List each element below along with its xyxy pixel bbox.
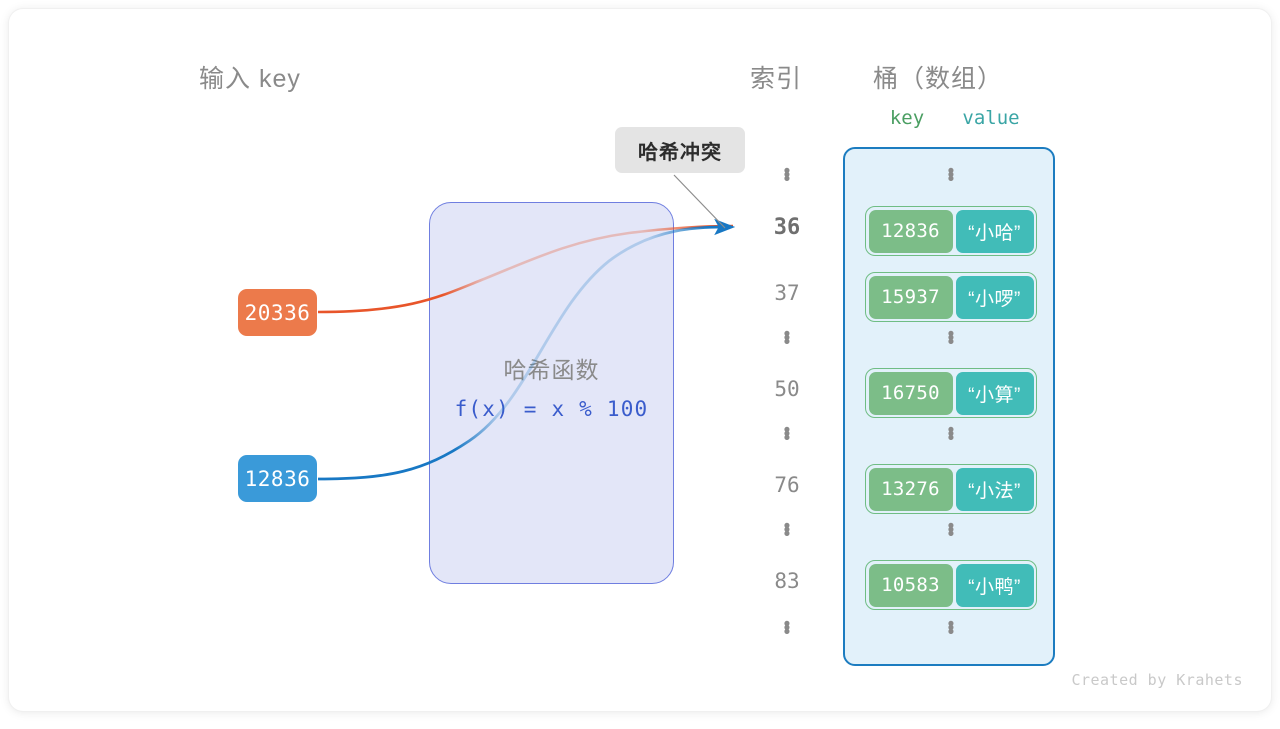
entry-value: “小啰” xyxy=(956,276,1034,319)
collision-leader-line xyxy=(674,175,725,228)
entry-key: 10583 xyxy=(869,564,953,607)
input-key-chip-12836[interactable]: 12836 xyxy=(238,455,317,502)
index-ellipsis: ••• xyxy=(753,170,821,182)
bucket-ellipsis: ••• xyxy=(845,623,1057,635)
bucket-ellipsis: ••• xyxy=(845,170,1057,182)
hash-collision-callout: 哈希冲突 xyxy=(615,127,745,173)
index-ellipsis: ••• xyxy=(753,333,821,345)
input-key-title: 输入 key xyxy=(199,59,301,95)
bucket-array: •••12836“小哈”15937“小啰”•••16750“小算”•••1327… xyxy=(843,147,1055,666)
index-column: •••3637•••50•••76•••83••• xyxy=(753,149,821,669)
index-title: 索引 xyxy=(750,59,802,95)
hash-function-box: 哈希函数 f(x) = x % 100 xyxy=(429,202,674,584)
entry-key: 16750 xyxy=(869,372,953,415)
entry-value: “小算” xyxy=(956,372,1034,415)
input-key-chip-20336[interactable]: 20336 xyxy=(238,289,317,336)
key-column-header: key xyxy=(865,107,949,129)
hash-function-title: 哈希函数 xyxy=(430,351,673,385)
bucket-title: 桶（数组） xyxy=(873,59,1003,95)
index-value-37: 37 xyxy=(753,281,821,305)
bucket-entry[interactable]: 12836“小哈” xyxy=(865,206,1037,256)
index-ellipsis: ••• xyxy=(753,623,821,635)
entry-key: 13276 xyxy=(869,468,953,511)
index-value-83: 83 xyxy=(753,569,821,593)
value-column-header: value xyxy=(949,107,1033,129)
bucket-column-headers: key value xyxy=(843,107,1055,129)
index-ellipsis: ••• xyxy=(753,525,821,537)
entry-key: 12836 xyxy=(869,210,953,253)
bucket-entry[interactable]: 15937“小啰” xyxy=(865,272,1037,322)
index-value-76: 76 xyxy=(753,473,821,497)
diagram-card: 输入 key 索引 桶（数组） key value 20336 12836 哈希… xyxy=(9,9,1271,711)
diagram-canvas: 输入 key 索引 桶（数组） key value 20336 12836 哈希… xyxy=(0,0,1280,720)
entry-value: “小鸭” xyxy=(956,564,1034,607)
bucket-ellipsis: ••• xyxy=(845,429,1057,441)
bucket-entry[interactable]: 13276“小法” xyxy=(865,464,1037,514)
footer-credit: Created by Krahets xyxy=(1071,671,1243,689)
bucket-entry[interactable]: 10583“小鸭” xyxy=(865,560,1037,610)
index-value-50: 50 xyxy=(753,377,821,401)
entry-key: 15937 xyxy=(869,276,953,319)
bucket-ellipsis: ••• xyxy=(845,333,1057,345)
hash-function-formula: f(x) = x % 100 xyxy=(430,397,673,421)
bucket-ellipsis: ••• xyxy=(845,525,1057,537)
index-ellipsis: ••• xyxy=(753,429,821,441)
entry-value: “小法” xyxy=(956,468,1034,511)
bucket-entry[interactable]: 16750“小算” xyxy=(865,368,1037,418)
index-value-36: 36 xyxy=(753,215,821,240)
entry-value: “小哈” xyxy=(956,210,1034,253)
